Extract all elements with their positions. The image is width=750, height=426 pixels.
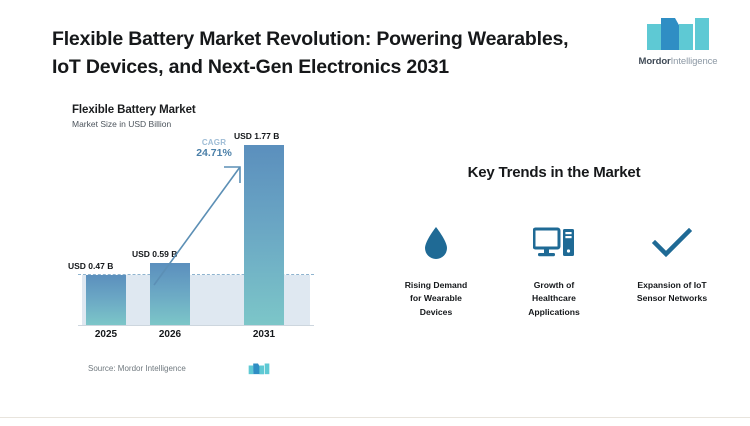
brand-name-primary: Mordor <box>639 56 671 67</box>
mordor-m-logo-icon <box>645 14 711 52</box>
mordor-m-logo-small-icon <box>248 362 270 375</box>
chart-plot-area: USD 0.47 B USD 0.59 B USD 1.77 B CAGR 24… <box>72 142 302 347</box>
cagr-annotation: CAGR 24.71% <box>186 138 242 159</box>
trend-item-wearables: Rising Demand for Wearable Devices <box>380 223 492 319</box>
trend-label-healthcare-line3: Applications <box>528 306 580 319</box>
trend-label-iot-sensors: Expansion of IoT Sensor Networks <box>637 279 707 306</box>
bar-value-label-2026: USD 0.59 B <box>132 249 177 259</box>
trend-label-healthcare: Growth of Healthcare Applications <box>528 279 580 319</box>
trend-label-wearables-line3: Devices <box>405 306 468 319</box>
key-trends-heading: Key Trends in the Market <box>380 164 728 181</box>
trend-label-healthcare-line2: Healthcare <box>528 292 580 305</box>
bar-2031 <box>244 145 284 325</box>
trend-item-healthcare: Growth of Healthcare Applications <box>498 223 610 319</box>
cagr-label: CAGR <box>186 138 242 147</box>
x-label-2031: 2031 <box>244 329 284 340</box>
brand-logo: MordorIntelligence <box>630 14 726 67</box>
page-title-line1: Flexible Battery Market Revolution: Powe… <box>52 28 568 50</box>
chart-x-axis <box>78 325 314 326</box>
trend-label-healthcare-line1: Growth of <box>528 279 580 292</box>
bar-2026 <box>150 263 190 325</box>
bar-value-label-2025: USD 0.47 B <box>68 261 113 271</box>
brand-name-secondary: Intelligence <box>671 56 718 67</box>
infographic-page: Flexible Battery Market Revolution: Powe… <box>0 0 750 426</box>
checkmark-icon <box>652 223 692 263</box>
chart-source-text: Source: Mordor Intelligence <box>88 364 186 373</box>
footer-divider <box>0 417 750 418</box>
trend-label-wearables: Rising Demand for Wearable Devices <box>405 279 468 319</box>
key-trends-section: Key Trends in the Market Rising Demand f… <box>380 164 728 319</box>
chart-subtitle: Market Size in USD Billion <box>72 119 322 129</box>
trend-item-iot-sensors: Expansion of IoT Sensor Networks <box>616 223 728 319</box>
chart-x-axis-labels: 2025 2026 2031 <box>72 327 314 347</box>
trend-label-wearables-line2: for Wearable <box>405 292 468 305</box>
x-label-2026: 2026 <box>150 329 190 340</box>
trend-label-iot-sensors-line2: Sensor Networks <box>637 292 707 305</box>
chart-source: Source: Mordor Intelligence <box>88 362 318 375</box>
brand-name: MordorIntelligence <box>639 56 718 67</box>
x-label-2025: 2025 <box>86 329 126 340</box>
market-size-chart: Flexible Battery Market Market Size in U… <box>72 104 322 389</box>
trend-label-wearables-line1: Rising Demand <box>405 279 468 292</box>
key-trends-list: Rising Demand for Wearable Devices <box>380 223 728 319</box>
chart-title: Flexible Battery Market <box>72 104 322 116</box>
trend-label-iot-sensors-line1: Expansion of IoT <box>637 279 707 292</box>
cagr-value: 24.71% <box>186 147 242 159</box>
page-title-line2: IoT Devices, and Next-Gen Electronics 20… <box>52 54 632 82</box>
desktop-computer-icon <box>533 223 575 263</box>
page-title: Flexible Battery Market Revolution: Powe… <box>52 26 632 81</box>
water-droplet-icon <box>423 223 449 263</box>
bar-2025 <box>86 275 126 325</box>
